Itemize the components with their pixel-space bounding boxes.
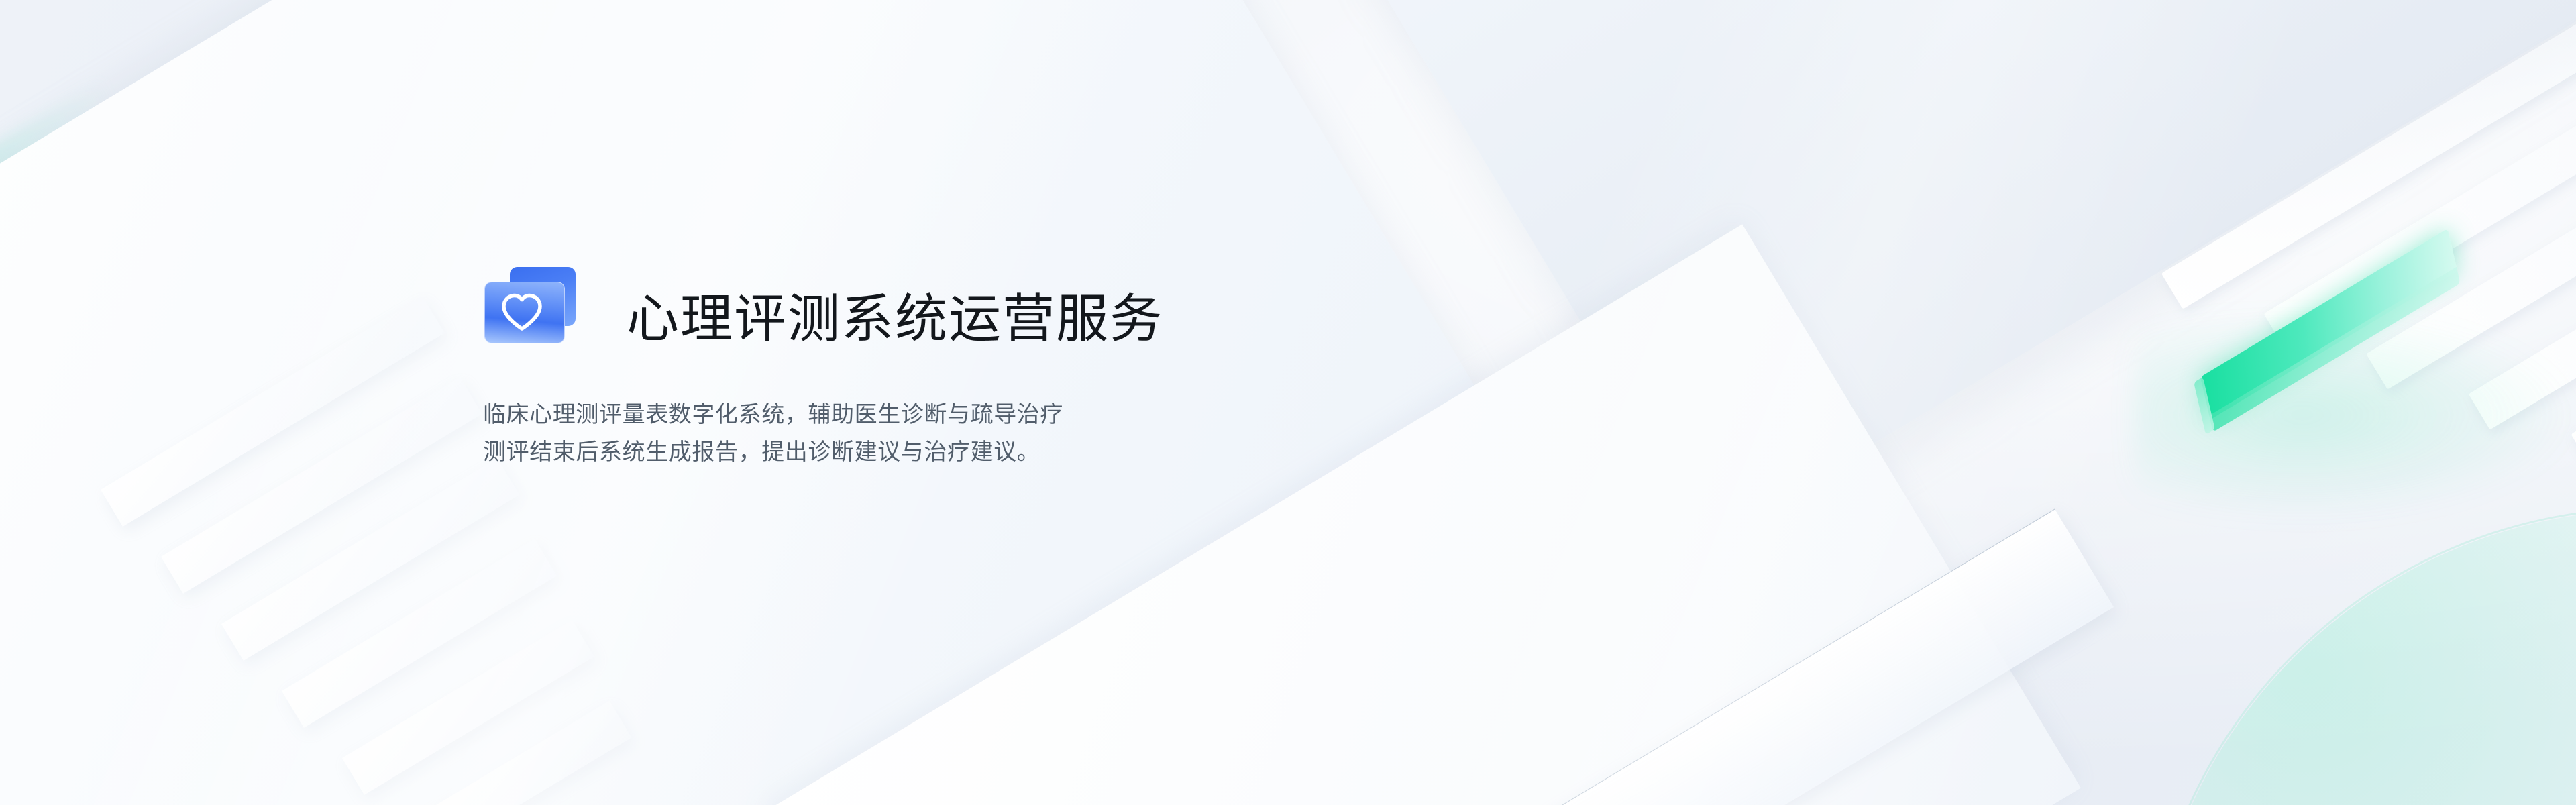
banner-subtitle: 临床心理测评量表数字化系统，辅助医生诊断与疏导治疗 测评结束后系统生成报告，提出… [483,396,1063,471]
banner-content: 心理评测系统运营服务 临床心理测评量表数字化系统，辅助医生诊断与疏导治疗 测评结… [0,0,2576,805]
page-title: 心理评测系统运营服务 [627,292,1163,345]
hero-banner: 心理评测系统运营服务 临床心理测评量表数字化系统，辅助医生诊断与疏导治疗 测评结… [0,0,2576,805]
heart-outline-icon [500,292,543,331]
subtitle-line-1: 临床心理测评量表数字化系统，辅助医生诊断与疏导治疗 [483,396,1063,433]
heart-card-icon [484,267,576,343]
subtitle-line-2: 测评结束后系统生成报告，提出诊断建议与治疗建议。 [483,433,1063,471]
